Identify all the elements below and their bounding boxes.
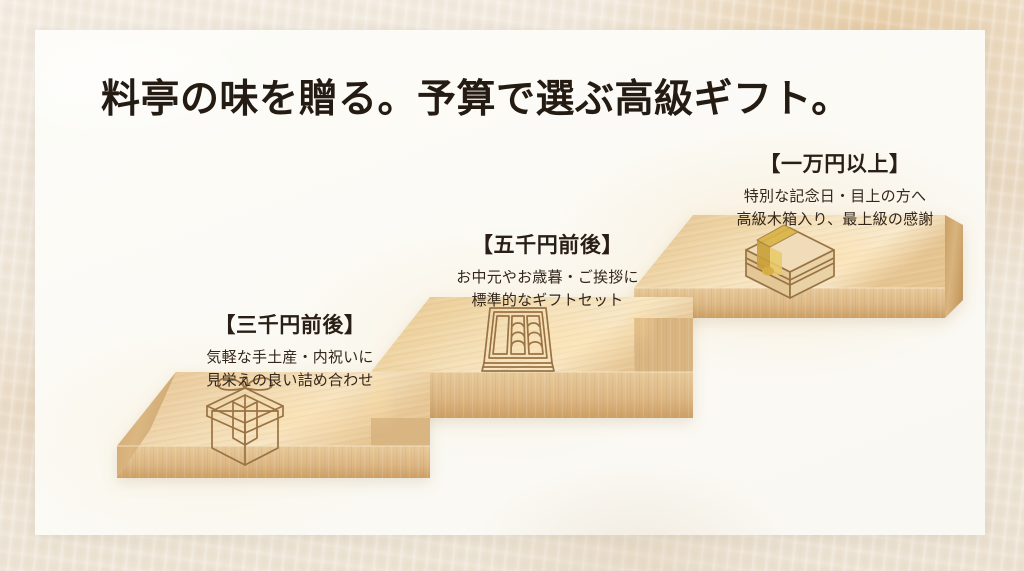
tier-1-text: 【三千円前後】 気軽な手土産・内祝いに 見栄えの良い詰め合わせ	[145, 309, 435, 393]
tier-2-desc-line2: 標準的なギフトセット	[420, 289, 675, 312]
page-title: 料亭の味を贈る。予算で選ぶ高級ギフト。	[101, 76, 851, 124]
content-card: 料亭の味を贈る。予算で選ぶ高級ギフト。	[35, 30, 985, 535]
tier-3-desc-line1: 特別な記念日・目上の方へ	[695, 185, 975, 208]
tier-2-text: 【五千円前後】 お中元やお歳暮・ご挨拶に 標準的なギフトセット	[420, 229, 675, 313]
slide-stage: 料亭の味を贈る。予算で選ぶ高級ギフト。	[0, 0, 1024, 571]
tier-2-desc-line1: お中元やお歳暮・ご挨拶に	[420, 266, 675, 289]
tier-1-desc-line2: 見栄えの良い詰め合わせ	[145, 369, 435, 392]
tier-3-label: 【一万円以上】	[695, 148, 975, 178]
tier-3-text: 【一万円以上】 特別な記念日・目上の方へ 高級木箱入り、最上級の感謝	[695, 148, 975, 232]
tier-2-label: 【五千円前後】	[420, 229, 675, 259]
tier-1-desc-line1: 気軽な手土産・内祝いに	[145, 346, 435, 369]
tier-1-label: 【三千円前後】	[145, 309, 435, 339]
tier-3-desc-line2: 高級木箱入り、最上級の感謝	[695, 208, 975, 231]
